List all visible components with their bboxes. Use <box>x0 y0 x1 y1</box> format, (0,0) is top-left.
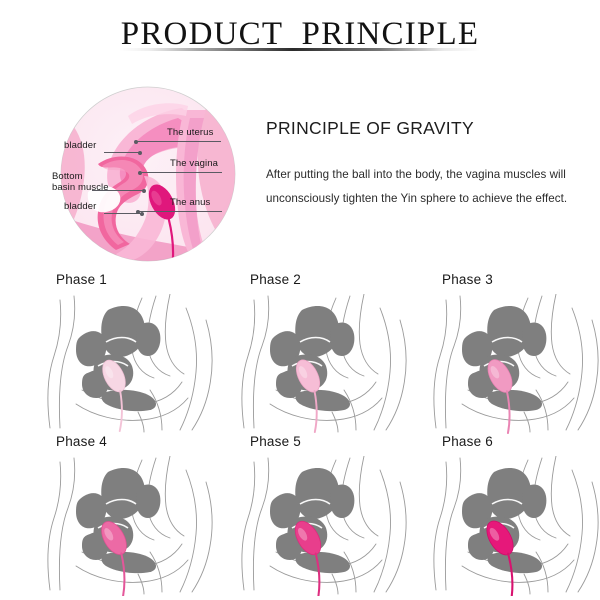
title-divider <box>120 48 480 51</box>
phase-label-3: Phase 3 <box>442 272 493 287</box>
phase-cell-6: Phase 6 <box>432 434 600 596</box>
phase-figure-6 <box>432 456 600 596</box>
page-title: PRODUCT PRINCIPLE <box>0 18 600 51</box>
label-bladder-upper: bladder <box>64 141 96 152</box>
phase-cell-2: Phase 2 <box>240 272 430 434</box>
phase-row-top: Phase 1 Phase 2 <box>0 272 600 434</box>
phase-cell-4: Phase 4 <box>46 434 236 596</box>
leader-line-uterus <box>136 141 221 142</box>
principle-heading: PRINCIPLE OF GRAVITY <box>266 118 586 139</box>
phase-label-4: Phase 4 <box>56 434 107 449</box>
phase-figure-3 <box>432 294 600 434</box>
label-uterus: The uterus <box>167 128 213 139</box>
phase-label-5: Phase 5 <box>250 434 301 449</box>
label-anus: The anus <box>170 198 210 209</box>
phase-cell-1: Phase 1 <box>46 272 236 434</box>
phase-row-bottom: Phase 4 Phase 5 <box>0 434 600 596</box>
phase-figure-1 <box>46 294 236 434</box>
phase-label-6: Phase 6 <box>442 434 493 449</box>
label-vagina: The vagina <box>170 159 218 170</box>
label-bladder-lower: bladder <box>64 202 96 213</box>
leader-line-bladder-upper <box>104 152 140 153</box>
phase-figure-4 <box>46 456 236 596</box>
principle-body-text: After putting the ball into the body, th… <box>266 163 586 211</box>
label-bottom-basin-muscle-line2: basin muscle <box>52 183 109 194</box>
phase-label-2: Phase 2 <box>250 272 301 287</box>
phase-figure-2 <box>240 294 430 434</box>
principle-text-panel: PRINCIPLE OF GRAVITY After putting the b… <box>266 118 586 211</box>
label-bottom-basin-muscle: Bottom basin muscle <box>52 172 109 193</box>
leader-line-anus <box>138 211 222 212</box>
product-principle-infographic: PRODUCT PRINCIPLE <box>0 0 600 600</box>
phase-cell-5: Phase 5 <box>240 434 430 596</box>
phase-grid: Phase 1 Phase 2 <box>0 272 600 596</box>
phase-figure-5 <box>240 456 430 596</box>
page-title-block: PRODUCT PRINCIPLE <box>0 18 600 51</box>
phase-label-1: Phase 1 <box>56 272 107 287</box>
phase-cell-3: Phase 3 <box>432 272 600 434</box>
leader-line-vagina <box>140 172 222 173</box>
